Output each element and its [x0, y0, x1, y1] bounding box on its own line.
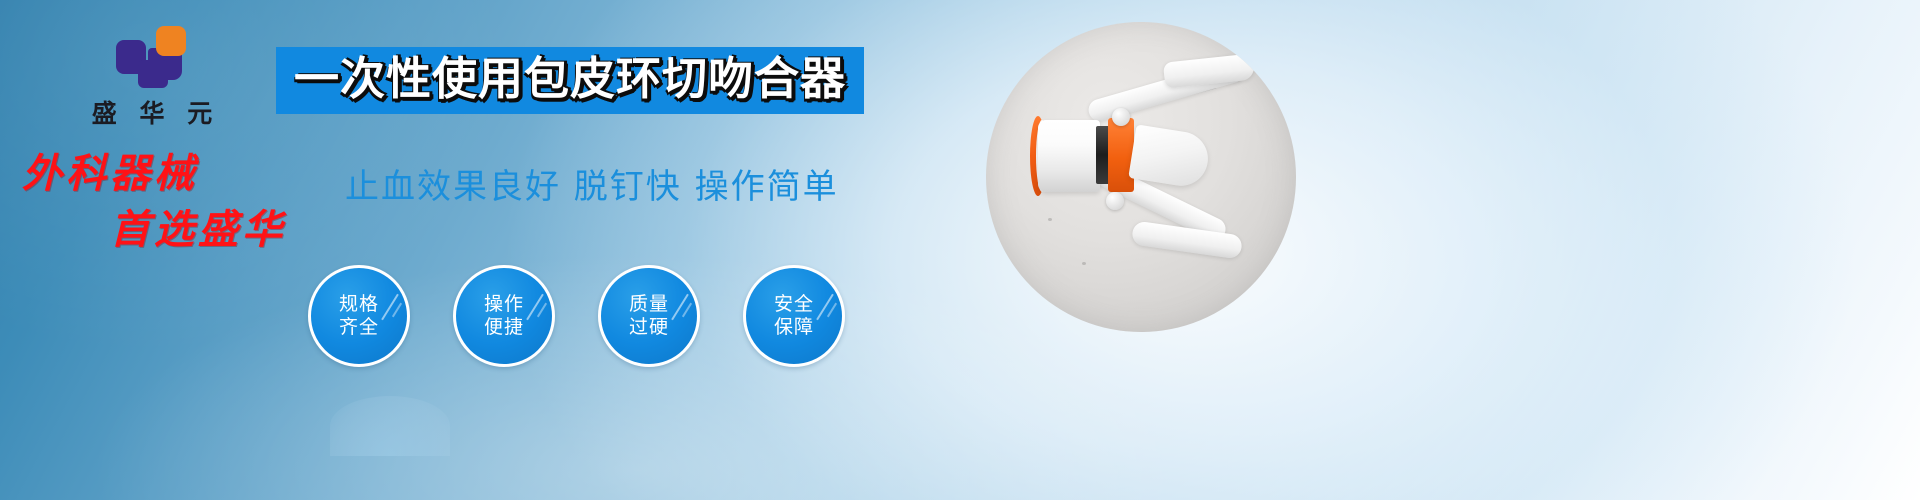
slash-highlight-icon — [537, 303, 547, 318]
feature-badge[interactable]: 质量 过硬 — [598, 265, 700, 367]
shenghuayuan-blocks-logo-icon — [116, 26, 188, 88]
feature-badge[interactable]: 操作 便捷 — [453, 265, 555, 367]
promo-banner: 盛 华 元 一次性使用包皮环切吻合器 外科器械 首选盛华 止血效果良好 脱钉快 … — [0, 0, 1920, 500]
feature-label-line1: 质量 — [629, 293, 669, 316]
stapler-orange-band — [1108, 118, 1134, 192]
stapler-upper-handle — [1163, 53, 1255, 88]
slash-highlight-icon — [682, 303, 692, 318]
brand-name: 盛 华 元 — [62, 94, 242, 130]
main-title-bar: 一次性使用包皮环切吻合器 — [276, 47, 864, 114]
feature-label-line1: 规格 — [339, 293, 379, 316]
calligraphy-slogan: 外科器械 首选盛华 — [22, 152, 352, 252]
feature-badge[interactable]: 安全 保障 — [743, 265, 845, 367]
slogan-line-1: 外科器械 — [22, 152, 352, 196]
stapler-pivot — [1112, 108, 1130, 126]
feature-badge-list: 规格 齐全 操作 便捷 质量 过硬 安全 保障 — [308, 265, 845, 367]
page-title: 一次性使用包皮环切吻合器 — [294, 53, 846, 105]
brand-logo[interactable]: 盛 华 元 — [62, 26, 242, 130]
slogan-line-2: 首选盛华 — [110, 208, 352, 252]
product-image — [986, 22, 1296, 332]
stapler-nose-cone — [1128, 124, 1212, 189]
feature-label-line1: 操作 — [484, 293, 524, 316]
feature-label-line1: 安全 — [774, 293, 814, 316]
slash-highlight-icon — [827, 303, 837, 318]
feature-label-line2: 齐全 — [339, 316, 379, 339]
stapler-barrel — [1038, 120, 1100, 192]
feature-label-line2: 过硬 — [629, 316, 669, 339]
subtitle: 止血效果良好 脱钉快 操作简单 — [345, 165, 839, 209]
slash-highlight-icon — [392, 303, 402, 318]
decorative-orb — [330, 396, 450, 456]
feature-label-line2: 便捷 — [484, 316, 524, 339]
stapler-pivot — [1106, 192, 1124, 210]
feature-label-line2: 保障 — [774, 316, 814, 339]
feature-badge[interactable]: 规格 齐全 — [308, 265, 410, 367]
